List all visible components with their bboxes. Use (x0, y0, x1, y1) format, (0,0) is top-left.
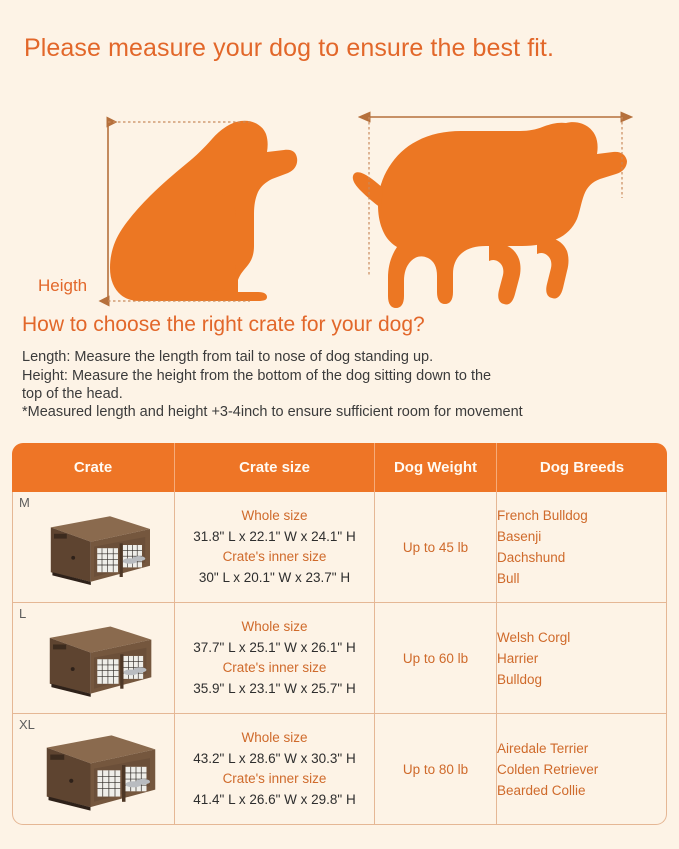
cell-dog-breeds: French Bulldog Basenji Dachshund Bull (497, 492, 667, 603)
breed-item: French Bulldog (497, 505, 666, 526)
howto-body: Length: Measure the length from tail to … (22, 348, 662, 423)
howto-line-note: *Measured length and height +3-4inch to … (22, 403, 662, 422)
howto-line-length: Length: Measure the length from tail to … (22, 348, 662, 367)
inner-size-dims: 35.9" L x 23.1" W x 25.7" H (175, 679, 374, 700)
whole-size-label: Whole size (175, 728, 374, 749)
inner-size-dims: 41.4" L x 26.6" W x 29.8" H (175, 790, 374, 811)
inner-size-label: Crate's inner size (175, 769, 374, 790)
breed-item: Airedale Terrier (497, 738, 666, 759)
column-header-crate: Crate (12, 443, 175, 492)
breed-item: Harrier (497, 648, 666, 669)
cell-dog-weight: Up to 45 lb (375, 492, 497, 603)
breed-item: Colden Retriever (497, 759, 666, 780)
breed-item: Bearded Collie (497, 780, 666, 801)
whole-size-label: Whole size (175, 506, 374, 527)
cell-dog-breeds: Airedale Terrier Colden Retriever Bearde… (497, 714, 667, 825)
whole-size-dims: 31.8" L x 22.1" W x 24.1" H (175, 527, 374, 548)
cell-crate-size: Whole size 31.8" L x 22.1" W x 24.1" H C… (175, 492, 375, 603)
crate-size-table-wrap: Crate Crate size Dog Weight Dog Breeds M (12, 443, 667, 825)
crate-photo-icon (30, 505, 158, 589)
cell-dog-weight: Up to 80 lb (375, 714, 497, 825)
howto-line-height-b: top of the head. (22, 386, 662, 403)
table-body: M (12, 492, 667, 825)
howto-title: How to choose the right crate for your d… (22, 313, 425, 337)
breed-item: Bulldog (497, 669, 666, 690)
table-row: XL (12, 714, 667, 825)
measurement-diagram: Length Heigth (0, 78, 679, 308)
dog-silhouettes-svg (0, 78, 679, 308)
inner-size-dims: 30" L x 20.1" W x 23.7" H (175, 568, 374, 589)
table-row: L (12, 603, 667, 714)
column-header-crate-size: Crate size (175, 443, 375, 492)
whole-size-dims: 37.7" L x 25.1" W x 26.1" H (175, 638, 374, 659)
cell-crate-image: XL (12, 714, 175, 825)
breed-item: Bull (497, 568, 666, 589)
inner-size-label: Crate's inner size (175, 547, 374, 568)
crate-photo-icon (24, 723, 164, 815)
whole-size-dims: 43.2" L x 28.6" W x 30.3" H (175, 749, 374, 770)
crate-size-table: Crate Crate size Dog Weight Dog Breeds M (12, 443, 667, 825)
cell-crate-image: M (12, 492, 175, 603)
cell-crate-image: L (12, 603, 175, 714)
table-header-row: Crate Crate size Dog Weight Dog Breeds (12, 443, 667, 492)
size-label: M (19, 495, 30, 510)
column-header-dog-weight: Dog Weight (375, 443, 497, 492)
howto-line-height-a: Height: Measure the height from the bott… (22, 368, 662, 385)
table-row: M (12, 492, 667, 603)
breed-item: Dachshund (497, 547, 666, 568)
size-guide-page: Please measure your dog to ensure the be… (0, 0, 679, 849)
cell-crate-size: Whole size 37.7" L x 25.1" W x 26.1" H C… (175, 603, 375, 714)
page-title: Please measure your dog to ensure the be… (24, 34, 554, 63)
standing-dog-silhouette (353, 122, 627, 308)
inner-size-label: Crate's inner size (175, 658, 374, 679)
size-label: XL (19, 717, 35, 732)
sitting-dog-silhouette (110, 121, 297, 301)
breed-item: Welsh Corgl (497, 627, 666, 648)
column-header-dog-breeds: Dog Breeds (497, 443, 667, 492)
size-label: L (19, 606, 26, 621)
cell-dog-breeds: Welsh Corgl Harrier Bulldog (497, 603, 667, 714)
cell-crate-size: Whole size 43.2" L x 28.6" W x 30.3" H C… (175, 714, 375, 825)
crate-photo-icon (28, 615, 160, 701)
whole-size-label: Whole size (175, 617, 374, 638)
breed-item: Basenji (497, 526, 666, 547)
cell-dog-weight: Up to 60 lb (375, 603, 497, 714)
